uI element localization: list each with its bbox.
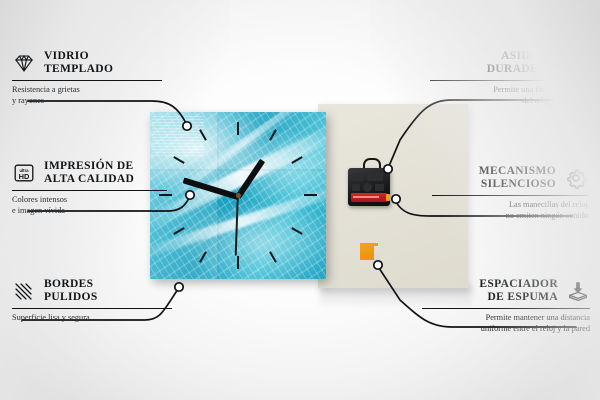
- feature-espaciador-de-espuma: ESPACIADOR DE ESPUMA Permite mantener un…: [422, 278, 590, 334]
- feature-description: Las manecillas del reloj no emiten ningú…: [432, 200, 588, 221]
- foam-spacer-part: [360, 243, 378, 260]
- divider: [12, 190, 167, 191]
- feature-title: IMPRESIÓN DE ALTA CALIDAD: [44, 160, 134, 187]
- svg-text:HD: HD: [19, 172, 30, 181]
- feature-title: ASIDERO DURADERO: [487, 50, 556, 77]
- press-down-pad-icon: [566, 280, 590, 302]
- divider: [432, 195, 588, 196]
- ultra-hd-badge-icon: ultra HD: [12, 162, 36, 184]
- feature-description: Colores intensos e imagen vívida: [12, 195, 167, 216]
- divider: [12, 80, 162, 81]
- wall-clock: [150, 112, 326, 279]
- diagonal-lines-icon: [12, 280, 36, 302]
- feature-title: MECANISMO SILENCIOSO: [479, 165, 556, 192]
- clock-hand-hub: [236, 193, 241, 198]
- clock-tick: [237, 122, 239, 135]
- battery-label: [353, 196, 379, 198]
- divider: [422, 308, 590, 309]
- picture-frame-hanging-icon: [564, 52, 588, 74]
- feature-title: VIDRIO TEMPLADO: [44, 50, 113, 77]
- feature-description: Permite una fácil instalación del reloj …: [430, 85, 588, 106]
- infographic-canvas: VIDRIO TEMPLADO Resistencia a grietas y …: [0, 0, 600, 400]
- feature-vidrio-templado: VIDRIO TEMPLADO Resistencia a grietas y …: [12, 50, 162, 106]
- feature-description: Resistencia a grietas y rayones: [12, 85, 162, 106]
- feature-description: Superficie lisa y segura: [12, 313, 172, 323]
- feature-impresion-alta-calidad: ultra HD IMPRESIÓN DE ALTA CALIDAD Color…: [12, 160, 167, 216]
- feature-description: Permite mantener una distancia uniforme …: [422, 313, 590, 334]
- feature-title: ESPACIADOR DE ESPUMA: [479, 278, 558, 305]
- feature-bordes-pulidos: BORDES PULIDOS Superficie lisa y segura: [12, 278, 172, 324]
- clock-tick: [237, 256, 239, 269]
- feature-asidero-duradero: ASIDERO DURADERO Permite una fácil insta…: [430, 50, 588, 106]
- gear-icon: [564, 167, 588, 189]
- feature-mecanismo-silencioso: MECANISMO SILENCIOSO Las manecillas del …: [432, 165, 588, 221]
- feature-title: BORDES PULIDOS: [44, 278, 98, 305]
- clock-tick: [304, 194, 317, 196]
- divider: [12, 308, 172, 309]
- diamond-icon: [12, 52, 36, 74]
- divider: [430, 80, 588, 81]
